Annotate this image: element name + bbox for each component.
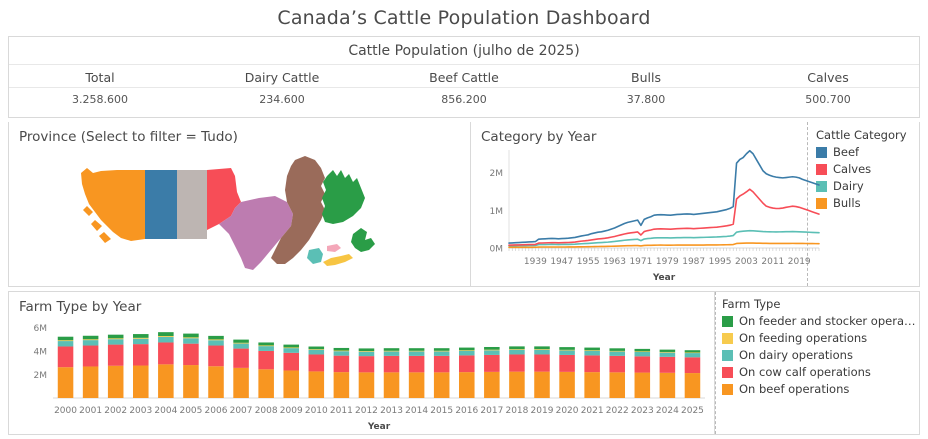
bar-stack[interactable] (509, 346, 525, 398)
bar-stack[interactable] (183, 334, 199, 398)
bar-segment[interactable] (359, 352, 375, 356)
bar-x-tick-label: 2004 (154, 406, 177, 416)
bar-segment[interactable] (409, 356, 425, 372)
bar-stack[interactable] (584, 348, 600, 398)
bar-x-tick-label: 2017 (480, 406, 503, 416)
kpi-header-dairy-cattle: Dairy Cattle (191, 65, 373, 87)
bar-segment[interactable] (158, 337, 174, 343)
bar-segment[interactable] (559, 372, 575, 398)
line-x-tick-label: 2011 (761, 257, 784, 267)
bar-segment[interactable] (584, 351, 600, 355)
line-x-tick-label: 1987 (682, 257, 705, 267)
bar-stack[interactable] (685, 350, 701, 398)
bar-segment[interactable] (233, 344, 249, 349)
bar-segment[interactable] (208, 339, 224, 340)
dashboard-root: Canada’s Cattle Population Dashboard Cat… (0, 0, 928, 439)
bar-segment[interactable] (258, 369, 274, 398)
bar-segment[interactable] (434, 348, 450, 351)
farm-type-by-year-title: Farm Type by Year (9, 292, 714, 315)
bar-stack[interactable] (233, 340, 249, 398)
bar-segment[interactable] (660, 352, 676, 353)
bar-segment[interactable] (609, 348, 625, 351)
bar-segment[interactable] (635, 356, 651, 372)
bar-segment[interactable] (409, 351, 425, 355)
bar-segment[interactable] (384, 351, 400, 355)
bar-stack[interactable] (258, 342, 274, 398)
bar-segment[interactable] (108, 345, 124, 366)
province-prince-edward-island[interactable] (327, 244, 341, 252)
bar-segment[interactable] (359, 351, 375, 352)
bar-stack[interactable] (434, 348, 450, 398)
kpi-value-calves: 500.700 (737, 88, 919, 110)
bar-segment[interactable] (509, 354, 525, 371)
bar-segment[interactable] (158, 364, 174, 398)
farm-type-legend-item[interactable]: On dairy operations (722, 348, 919, 362)
bar-stack[interactable] (58, 337, 74, 398)
bar-segment[interactable] (83, 346, 99, 367)
kpi-header-bulls: Bulls (555, 65, 737, 87)
bar-segment[interactable] (108, 338, 124, 339)
kpi-panel: Cattle Population (julho de 2025) Total … (8, 36, 920, 118)
bar-x-tick-label: 2007 (230, 406, 253, 416)
bar-segment[interactable] (635, 352, 651, 356)
bar-stack[interactable] (484, 347, 500, 398)
bar-segment[interactable] (309, 371, 325, 398)
bar-segment[interactable] (459, 350, 475, 351)
cattle-category-legend-item[interactable]: Beef (816, 145, 919, 159)
bar-segment[interactable] (133, 344, 149, 365)
bar-segment[interactable] (459, 355, 475, 372)
kpi-header-calves: Calves (737, 65, 919, 87)
bar-segment[interactable] (534, 350, 550, 355)
bar-segment[interactable] (58, 340, 74, 341)
farm-type-legend-item[interactable]: On feeding operations (722, 331, 919, 345)
line-x-tick-label: 2019 (788, 257, 811, 267)
bar-segment[interactable] (133, 339, 149, 344)
bar-segment[interactable] (183, 334, 199, 338)
bar-segment[interactable] (133, 338, 149, 339)
bar-stack[interactable] (384, 348, 400, 398)
bar-segment[interactable] (484, 372, 500, 398)
bar-segment[interactable] (635, 349, 651, 351)
province-map-title: Province (Select to filter = Tudo) (9, 122, 470, 145)
bar-segment[interactable] (359, 372, 375, 398)
bar-segment[interactable] (559, 347, 575, 350)
bar-stack[interactable] (609, 348, 625, 398)
bar-segment[interactable] (283, 345, 299, 348)
bar-segment[interactable] (409, 372, 425, 398)
bar-stack[interactable] (334, 348, 350, 398)
bar-segment[interactable] (584, 355, 600, 372)
bar-segment[interactable] (660, 350, 676, 352)
kpi-value-row: 3.258.600 234.600 856.200 37.800 500.700 (9, 87, 919, 110)
bar-x-tick-label: 2000 (54, 406, 77, 416)
bar-stack[interactable] (283, 345, 299, 398)
bar-segment[interactable] (534, 346, 550, 349)
bar-segment[interactable] (58, 367, 74, 398)
bar-segment[interactable] (384, 372, 400, 398)
cattle-category-legend-label: Bulls (833, 196, 861, 210)
province-british-columbia[interactable] (81, 168, 145, 243)
bar-x-tick-label: 2013 (380, 406, 403, 416)
bar-segment[interactable] (609, 352, 625, 356)
bar-segment[interactable] (334, 351, 350, 352)
bar-segment[interactable] (183, 365, 199, 398)
bar-x-tick-label: 2014 (405, 406, 428, 416)
bar-segment[interactable] (434, 351, 450, 355)
kpi-value-total: 3.258.600 (9, 88, 191, 110)
bar-segment[interactable] (309, 354, 325, 371)
bar-segment[interactable] (459, 372, 475, 398)
bar-segment[interactable] (108, 335, 124, 339)
farm-type-legend-label: On dairy operations (739, 348, 853, 362)
bar-y-tick-label: 4M (34, 347, 48, 357)
bar-segment[interactable] (534, 354, 550, 371)
bar-stack[interactable] (459, 348, 475, 398)
bar-segment[interactable] (685, 352, 701, 353)
bottom-row: Farm Type by Year 2M4M6M2000200120022003… (8, 291, 920, 435)
bar-y-tick-label: 6M (34, 324, 48, 334)
bar-x-tick-label: 2015 (430, 406, 453, 416)
bar-segment[interactable] (484, 350, 500, 355)
bar-segment[interactable] (133, 334, 149, 338)
bar-stack[interactable] (83, 336, 99, 398)
bar-segment[interactable] (635, 373, 651, 398)
province-new-brunswick[interactable] (307, 248, 323, 264)
kpi-header-total: Total (9, 65, 191, 87)
farm-type-legend-swatch-icon (722, 384, 733, 395)
bar-stack[interactable] (108, 335, 124, 398)
bar-x-tick-label: 2010 (305, 406, 328, 416)
cattle-category-legend-label: Beef (833, 145, 859, 159)
bar-segment[interactable] (258, 346, 274, 351)
bar-stack[interactable] (158, 332, 174, 398)
category-by-year-panel: Category by Year 0M1M2M19391947195519631… (471, 122, 919, 286)
bar-segment[interactable] (108, 339, 124, 344)
bar-segment[interactable] (233, 340, 249, 343)
bar-segment[interactable] (283, 370, 299, 398)
bar-stack[interactable] (559, 347, 575, 398)
farm-type-legend-swatch-icon (722, 333, 733, 344)
bar-segment[interactable] (609, 351, 625, 352)
category-by-year-chart[interactable]: 0M1M2M1939194719551963197119791987199520… (471, 144, 823, 284)
bar-segment[interactable] (334, 356, 350, 372)
bar-segment[interactable] (534, 349, 550, 350)
bar-segment[interactable] (584, 348, 600, 351)
farm-type-legend: Farm Type On feeder and stocker opera…On… (715, 292, 919, 434)
bar-x-tick-label: 2011 (330, 406, 353, 416)
cattle-category-legend-label: Calves (833, 162, 871, 176)
bar-segment[interactable] (258, 345, 274, 346)
farm-type-legend-swatch-icon (722, 367, 733, 378)
cattle-category-legend-title: Cattle Category (816, 128, 919, 142)
bar-segment[interactable] (384, 348, 400, 351)
bar-x-tick-label: 2001 (79, 406, 102, 416)
bar-segment[interactable] (359, 348, 375, 351)
bar-segment[interactable] (208, 340, 224, 345)
bar-x-tick-label: 2022 (606, 406, 629, 416)
bar-segment[interactable] (509, 350, 525, 355)
bar-segment[interactable] (334, 348, 350, 351)
bar-segment[interactable] (208, 346, 224, 367)
kpi-header-row: Total Dairy Cattle Beef Cattle Bulls Cal… (9, 65, 919, 87)
category-by-year-title: Category by Year (471, 122, 807, 145)
bar-segment[interactable] (58, 337, 74, 341)
bar-segment[interactable] (58, 341, 74, 346)
cattle-category-legend-label: Dairy (833, 179, 864, 193)
kpi-header-beef-cattle: Beef Cattle (373, 65, 555, 87)
bar-x-tick-label: 2025 (681, 406, 704, 416)
line-y-tick-label: 0M (490, 245, 504, 255)
line-y-tick-label: 1M (490, 207, 504, 217)
bar-segment[interactable] (359, 356, 375, 372)
bar-segment[interactable] (685, 350, 701, 352)
province-newfoundland-labrador[interactable] (322, 170, 375, 252)
bar-segment[interactable] (158, 342, 174, 364)
canada-map-svg[interactable] (9, 146, 471, 286)
bar-segment[interactable] (334, 372, 350, 398)
bar-segment[interactable] (258, 342, 274, 345)
bar-x-axis-title: Year (367, 422, 391, 432)
farm-type-legend-swatch-icon (722, 316, 733, 327)
farm-type-legend-item[interactable]: On beef operations (722, 382, 919, 396)
bar-segment[interactable] (509, 372, 525, 398)
line-x-tick-label: 1955 (577, 257, 600, 267)
bar-segment[interactable] (334, 351, 350, 355)
bar-stack[interactable] (660, 350, 676, 398)
bar-x-tick-label: 2008 (255, 406, 278, 416)
bar-segment[interactable] (509, 346, 525, 349)
bar-segment[interactable] (309, 350, 325, 355)
bar-segment[interactable] (459, 351, 475, 355)
province-saskatchewan[interactable] (177, 170, 207, 239)
bar-segment[interactable] (685, 357, 701, 373)
farm-type-by-year-panel: Farm Type by Year 2M4M6M2000200120022003… (9, 292, 715, 434)
line-series-calves[interactable] (509, 189, 819, 245)
bar-segment[interactable] (559, 355, 575, 372)
bar-segment[interactable] (283, 347, 299, 348)
line-x-axis-title: Year (652, 273, 676, 283)
kpi-heading: Cattle Population (julho de 2025) (9, 37, 919, 65)
bar-segment[interactable] (509, 349, 525, 350)
bar-stack[interactable] (309, 347, 325, 398)
bar-segment[interactable] (534, 372, 550, 398)
bar-segment[interactable] (58, 346, 74, 367)
bar-stack[interactable] (208, 336, 224, 398)
bar-x-tick-label: 2019 (531, 406, 554, 416)
cattle-category-legend-items: BeefCalvesDairyBulls (816, 145, 919, 210)
bar-x-tick-label: 2009 (280, 406, 303, 416)
bar-y-tick-label: 2M (34, 371, 48, 381)
bar-stack[interactable] (409, 348, 425, 398)
bar-segment[interactable] (158, 332, 174, 336)
line-x-tick-label: 1971 (629, 257, 652, 267)
bar-stack[interactable] (635, 349, 651, 398)
bar-segment[interactable] (660, 373, 676, 398)
bar-segment[interactable] (660, 353, 676, 357)
bar-segment[interactable] (83, 340, 99, 345)
bar-segment[interactable] (584, 372, 600, 398)
line-y-tick-label: 2M (490, 169, 504, 179)
bar-x-tick-label: 2023 (631, 406, 654, 416)
bar-segment[interactable] (83, 339, 99, 340)
province-nova-scotia[interactable] (323, 254, 353, 266)
bar-segment[interactable] (108, 366, 124, 398)
bar-segment[interactable] (133, 366, 149, 398)
bar-segment[interactable] (309, 347, 325, 350)
farm-type-legend-label: On beef operations (739, 382, 849, 396)
bar-x-tick-label: 2002 (104, 406, 127, 416)
line-x-tick-label: 1995 (709, 257, 732, 267)
farm-type-legend-label: On cow calf operations (739, 365, 871, 379)
bar-segment[interactable] (283, 353, 299, 371)
cattle-category-legend: Cattle Category BeefCalvesDairyBulls (807, 122, 919, 286)
bar-x-tick-label: 2016 (455, 406, 478, 416)
kpi-value-bulls: 37.800 (555, 88, 737, 110)
middle-row: Province (Select to filter = Tudo) (8, 122, 920, 287)
bar-segment[interactable] (434, 372, 450, 398)
bar-stack[interactable] (534, 346, 550, 398)
bar-segment[interactable] (459, 348, 475, 351)
bar-stack[interactable] (133, 334, 149, 398)
bar-x-tick-label: 2012 (355, 406, 378, 416)
bar-segment[interactable] (434, 351, 450, 352)
bar-x-tick-label: 2018 (505, 406, 528, 416)
bar-segment[interactable] (233, 349, 249, 368)
category-by-year-chart-area: Category by Year 0M1M2M19391947195519631… (471, 122, 807, 286)
bar-segment[interactable] (258, 351, 274, 369)
farm-type-legend-label: On feeding operations (739, 331, 867, 345)
bar-x-tick-label: 2006 (205, 406, 228, 416)
bar-stack[interactable] (359, 348, 375, 398)
bar-segment[interactable] (283, 348, 299, 353)
bar-segment[interactable] (484, 347, 500, 350)
farm-type-legend-label: On feeder and stocker opera… (739, 314, 916, 328)
bar-x-tick-label: 2020 (556, 406, 579, 416)
bar-x-tick-label: 2024 (656, 406, 679, 416)
bar-segment[interactable] (233, 343, 249, 344)
bar-segment[interactable] (559, 350, 575, 354)
bar-segment[interactable] (484, 350, 500, 351)
bar-segment[interactable] (609, 372, 625, 398)
farm-type-legend-items: On feeder and stocker opera…On feeding o… (722, 314, 919, 396)
bar-segment[interactable] (183, 344, 199, 365)
farm-type-legend-swatch-icon (722, 350, 733, 361)
bar-segment[interactable] (409, 348, 425, 351)
bar-segment[interactable] (384, 356, 400, 372)
bar-segment[interactable] (183, 338, 199, 343)
bar-segment[interactable] (635, 351, 651, 352)
bar-segment[interactable] (183, 337, 199, 338)
bar-segment[interactable] (309, 349, 325, 350)
bar-segment[interactable] (208, 336, 224, 340)
cattle-category-legend-item[interactable]: Calves (816, 162, 919, 176)
line-x-tick-label: 2003 (735, 257, 758, 267)
bar-segment[interactable] (83, 366, 99, 398)
bar-segment[interactable] (83, 336, 99, 340)
kpi-value-beef-cattle: 856.200 (373, 88, 555, 110)
bar-segment[interactable] (409, 351, 425, 352)
line-x-tick-label: 1947 (550, 257, 573, 267)
kpi-value-dairy-cattle: 234.600 (191, 88, 373, 110)
line-x-tick-label: 1979 (656, 257, 679, 267)
bar-segment[interactable] (233, 368, 249, 398)
province-alberta[interactable] (145, 170, 177, 239)
bar-x-tick-label: 2021 (581, 406, 604, 416)
bar-segment[interactable] (484, 355, 500, 372)
bar-segment[interactable] (584, 350, 600, 351)
cattle-category-legend-item[interactable]: Dairy (816, 179, 919, 193)
bar-x-tick-label: 2005 (179, 406, 202, 416)
line-x-tick-label: 1939 (524, 257, 547, 267)
canada-map[interactable] (9, 146, 471, 286)
farm-type-legend-item[interactable]: On cow calf operations (722, 365, 919, 379)
bar-segment[interactable] (384, 351, 400, 352)
farm-type-legend-title: Farm Type (722, 297, 919, 311)
bar-segment[interactable] (434, 356, 450, 372)
province-map-panel[interactable]: Province (Select to filter = Tudo) (9, 122, 471, 286)
bar-x-tick-label: 2003 (129, 406, 152, 416)
dashboard-title-bar: Canada’s Cattle Population Dashboard (8, 0, 920, 36)
bar-segment[interactable] (685, 373, 701, 398)
bar-segment[interactable] (559, 350, 575, 351)
bar-segment[interactable] (685, 353, 701, 357)
farm-type-legend-item[interactable]: On feeder and stocker opera… (722, 314, 919, 328)
bar-segment[interactable] (158, 336, 174, 337)
line-x-tick-label: 1963 (603, 257, 626, 267)
page-title: Canada’s Cattle Population Dashboard (277, 7, 650, 29)
cattle-category-legend-item[interactable]: Bulls (816, 196, 919, 210)
bar-segment[interactable] (660, 357, 676, 373)
bar-segment[interactable] (609, 356, 625, 372)
bar-segment[interactable] (208, 366, 224, 398)
farm-type-by-year-chart[interactable]: 2M4M6M2000200120022003200420052006200720… (9, 314, 713, 432)
